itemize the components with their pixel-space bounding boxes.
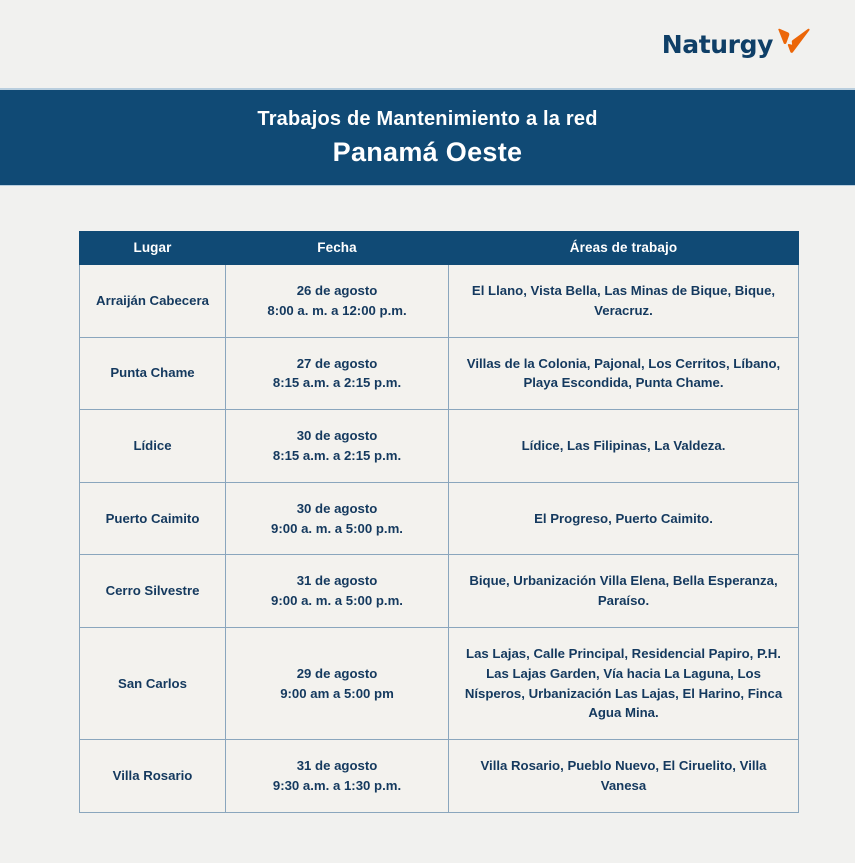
cell-areas: Villas de la Colonia, Pajonal, Los Cerri… [449,337,799,410]
cell-areas: Bique, Urbanización Villa Elena, Bella E… [449,555,799,628]
fecha-hora: 8:15 a.m. a 2:15 p.m. [236,446,438,466]
fecha-dia: 31 de agosto [236,571,438,591]
table-body: Arraiján Cabecera26 de agosto8:00 a. m. … [80,265,799,813]
cell-lugar: San Carlos [80,627,226,739]
cell-lugar: Cerro Silvestre [80,555,226,628]
fecha-dia: 31 de agosto [236,756,438,776]
fecha-hora: 9:00 a. m. a 5:00 p.m. [236,591,438,611]
cell-fecha: 30 de agosto9:00 a. m. a 5:00 p.m. [226,482,449,555]
fecha-dia: 26 de agosto [236,281,438,301]
table-header-row: Lugar Fecha Áreas de trabajo [80,232,799,265]
logo-bar: Naturgy [0,0,855,88]
cell-areas: Lídice, Las Filipinas, La Valdeza. [449,410,799,483]
cell-fecha: 29 de agosto9:00 am a 5:00 pm [226,627,449,739]
cell-fecha: 26 de agosto8:00 a. m. a 12:00 p.m. [226,265,449,338]
table-header: Lugar Fecha Áreas de trabajo [80,232,799,265]
table-row: Punta Chame27 de agosto8:15 a.m. a 2:15 … [80,337,799,410]
title-banner: Trabajos de Mantenimiento a la red Panam… [0,88,855,186]
cell-areas: El Progreso, Puerto Caimito. [449,482,799,555]
table-row: Cerro Silvestre31 de agosto9:00 a. m. a … [80,555,799,628]
cell-lugar: Punta Chame [80,337,226,410]
cell-lugar: Puerto Caimito [80,482,226,555]
cell-areas: El Llano, Vista Bella, Las Minas de Biqu… [449,265,799,338]
cell-lugar: Arraiján Cabecera [80,265,226,338]
column-header-areas: Áreas de trabajo [449,232,799,265]
table-row: Lídice30 de agosto8:15 a.m. a 2:15 p.m.L… [80,410,799,483]
banner-title: Panamá Oeste [333,137,523,168]
cell-fecha: 27 de agosto8:15 a.m. a 2:15 p.m. [226,337,449,410]
fecha-hora: 9:00 a. m. a 5:00 p.m. [236,519,438,539]
cell-fecha: 30 de agosto8:15 a.m. a 2:15 p.m. [226,410,449,483]
fecha-hora: 8:15 a.m. a 2:15 p.m. [236,373,438,393]
notice-page: Naturgy Trabajos de Mantenimiento a la r… [0,0,855,863]
fecha-dia: 30 de agosto [236,426,438,446]
fecha-hora: 9:30 a.m. a 1:30 p.m. [236,776,438,796]
cell-areas: Las Lajas, Calle Principal, Residencial … [449,627,799,739]
cell-lugar: Lídice [80,410,226,483]
banner-subtitle: Trabajos de Mantenimiento a la red [257,108,597,131]
naturgy-wordmark: Naturgy [662,32,773,57]
fecha-hora: 9:00 am a 5:00 pm [236,684,438,704]
cell-fecha: 31 de agosto9:30 a.m. a 1:30 p.m. [226,740,449,813]
maintenance-schedule-table: Lugar Fecha Áreas de trabajo Arraiján Ca… [79,231,799,813]
fecha-dia: 30 de agosto [236,499,438,519]
cell-lugar: Villa Rosario [80,740,226,813]
fecha-dia: 29 de agosto [236,664,438,684]
fecha-dia: 27 de agosto [236,354,438,374]
column-header-lugar: Lugar [80,232,226,265]
naturgy-logo: Naturgy [662,28,811,60]
table-row: Arraiján Cabecera26 de agosto8:00 a. m. … [80,265,799,338]
table-row: San Carlos29 de agosto9:00 am a 5:00 pmL… [80,627,799,739]
cell-fecha: 31 de agosto9:00 a. m. a 5:00 p.m. [226,555,449,628]
schedule-table-container: Lugar Fecha Áreas de trabajo Arraiján Ca… [0,186,855,813]
table-row: Puerto Caimito30 de agosto9:00 a. m. a 5… [80,482,799,555]
cell-areas: Villa Rosario, Pueblo Nuevo, El Ciruelit… [449,740,799,813]
table-row: Villa Rosario31 de agosto9:30 a.m. a 1:3… [80,740,799,813]
column-header-fecha: Fecha [226,232,449,265]
checkmark-butterfly-icon [777,28,811,54]
fecha-hora: 8:00 a. m. a 12:00 p.m. [236,301,438,321]
